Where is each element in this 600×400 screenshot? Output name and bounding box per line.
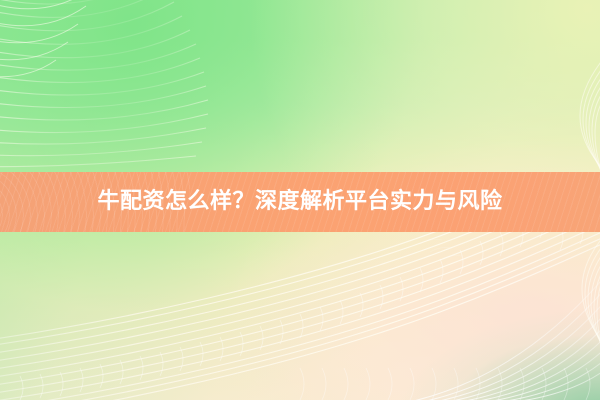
poster-banner: 牛配资怎么样？深度解析平台实力与风险 [0,0,600,400]
top-left-arc-group [0,0,208,167]
mid-texture-group [420,240,462,261]
bottom-right-arc-group [400,268,600,400]
title-banner-band: 牛配资怎么样？深度解析平台实力与风险 [0,172,600,232]
banner-title-text: 牛配资怎么样？深度解析平台实力与风险 [97,191,502,213]
